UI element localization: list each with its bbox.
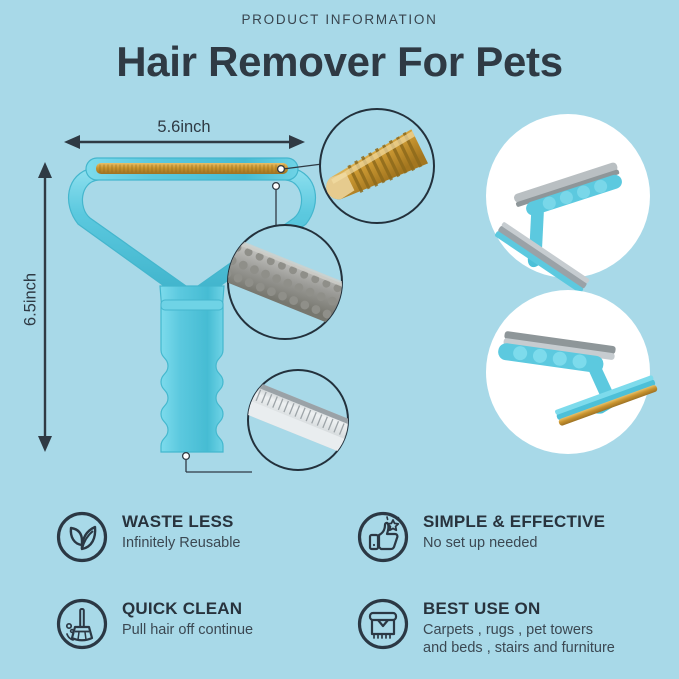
feature-subtext: Infinitely Reusable <box>122 534 241 552</box>
feature-subtext-line2: and beds , stairs and furniture <box>423 639 615 657</box>
page-title: Hair Remover For Pets <box>0 38 679 86</box>
callout-gold-blade-detail <box>319 109 434 223</box>
leaf-icon <box>56 511 108 563</box>
product-photo-back <box>486 290 663 454</box>
feature-heading: SIMPLE & EFFECTIVE <box>423 512 605 532</box>
feature-simple-effective: SIMPLE & EFFECTIVE No set up needed <box>357 508 640 586</box>
width-dimension-label: 5.6inch <box>104 118 264 137</box>
feature-subtext-line1: Carpets , rugs , pet towers <box>423 621 615 639</box>
callout-silver-comb-detail <box>235 370 366 470</box>
dimension-width <box>64 135 305 149</box>
feature-heading: BEST USE ON <box>423 599 615 619</box>
feature-best-use-on: BEST USE ON Carpets , rugs , pet towers … <box>357 595 640 673</box>
feature-list: WASTE LESS Infinitely Reusable SIMPLE & … <box>56 508 656 673</box>
callout-gray-bristle-detail <box>215 225 361 339</box>
feature-subtext: Pull hair off continue <box>122 621 253 639</box>
feature-subtext: No set up needed <box>423 534 605 552</box>
furniture-icon <box>357 598 409 650</box>
broom-icon <box>56 598 108 650</box>
product-photo-front <box>484 114 651 314</box>
infographic-canvas: PRODUCT INFORMATION Hair Remover For Pet… <box>0 0 679 679</box>
feature-waste-less: WASTE LESS Infinitely Reusable <box>56 508 339 586</box>
feature-heading: WASTE LESS <box>122 512 241 532</box>
feature-quick-clean: QUICK CLEAN Pull hair off continue <box>56 595 339 673</box>
eyebrow-label: PRODUCT INFORMATION <box>0 12 679 27</box>
feature-heading: QUICK CLEAN <box>122 599 253 619</box>
thumbs-up-icon <box>357 511 409 563</box>
height-dimension-label: 6.5inch <box>22 255 41 345</box>
